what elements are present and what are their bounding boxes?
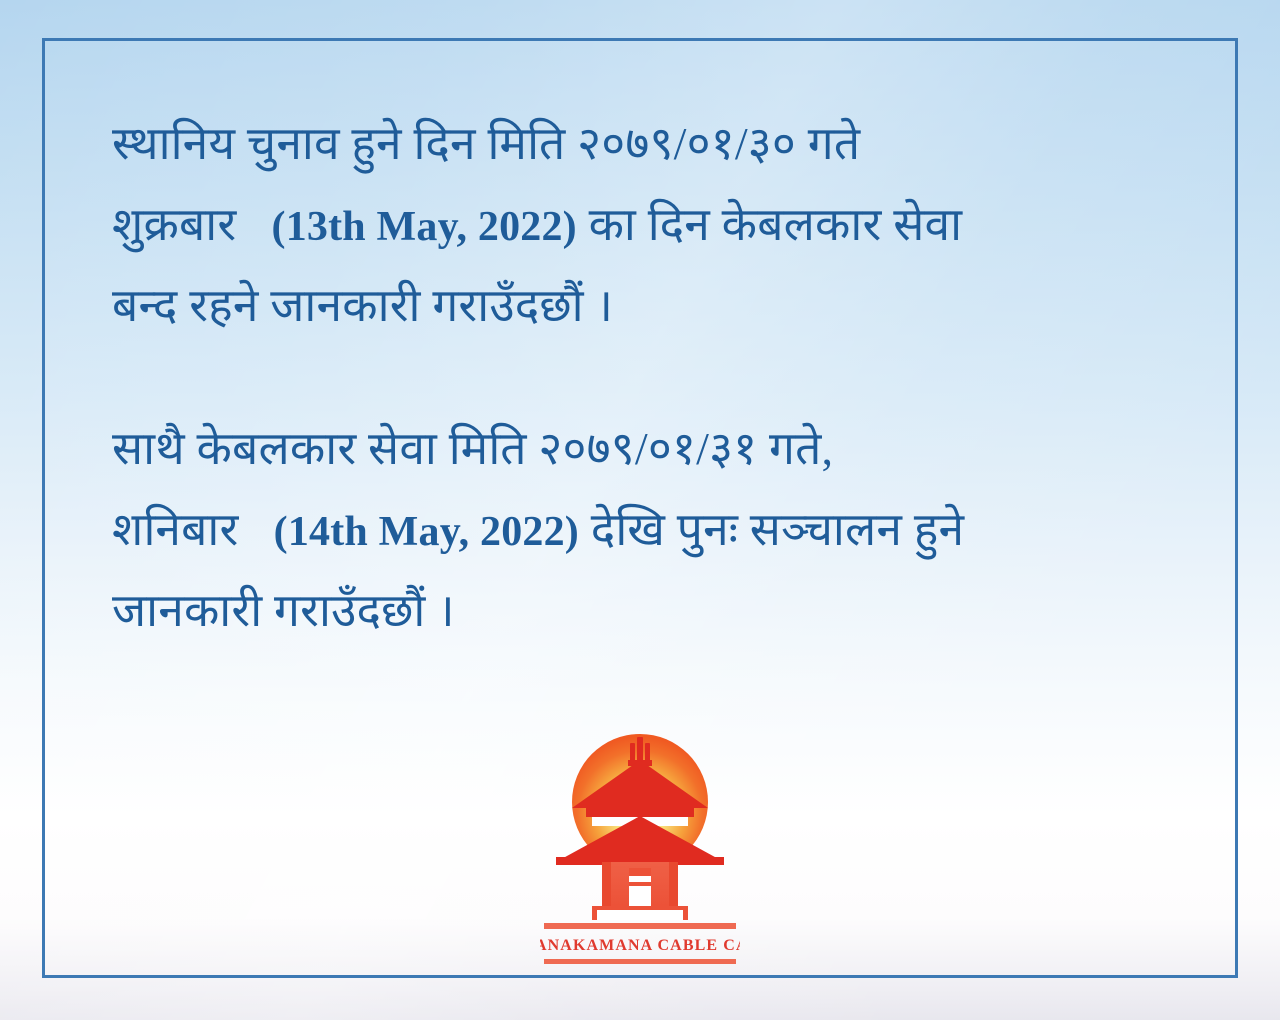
paragraph-1-line-2: शुक्रबार (13th May, 2022) का दिन केबलकार…: [112, 185, 1187, 266]
temple-sun-logo-icon: [540, 716, 740, 921]
upper-roof-eave-icon: [586, 808, 694, 817]
paragraph-2-line-3: जानकारी गराउँदछौं ।: [112, 571, 1187, 652]
paragraph-2-line-2-nepali-prefix: शनिबार: [112, 504, 239, 555]
paragraph-1-line-2-nepali-suffix: का दिन केबलकार सेवा: [589, 199, 963, 250]
temple-plinth-inner-icon: [597, 910, 683, 920]
wordmark-top-bar-icon: [544, 923, 736, 929]
notice-body: स्थानिय चुनाव हुने दिन मिति २०७९/०१/३० ग…: [112, 104, 1187, 652]
temple-pillar-right-icon: [669, 862, 678, 906]
paragraph-2-line-2: शनिबार (14th May, 2022) देखि पुनः सञ्चाल…: [112, 490, 1187, 571]
paragraph-2-line-2-nepali-suffix: देखि पुनः सञ्चालन हुने: [591, 504, 965, 555]
paragraph-2-gregorian-date: (14th May, 2022): [274, 509, 579, 555]
logo-wordmark: MANAKAMANA CABLE CAR: [540, 923, 740, 969]
paragraph-2-line-1: साथै केबलकार सेवा मिति २०७९/०१/३१ गते,: [112, 409, 1187, 490]
notice-paragraph-1: स्थानिय चुनाव हुने दिन मिति २०७९/०१/३० ग…: [112, 104, 1187, 347]
paragraph-1-line-1: स्थानिय चुनाव हुने दिन मिति २०७९/०१/३० ग…: [112, 104, 1187, 185]
notice-paragraph-2: साथै केबलकार सेवा मिति २०७९/०१/३१ गते, श…: [112, 409, 1187, 652]
manakamana-cable-car-logo: MANAKAMANA CABLE CAR: [540, 716, 740, 921]
paragraph-1-line-3: बन्द रहने जानकारी गराउँदछौं ।: [112, 266, 1187, 347]
wordmark-bottom-bar-icon: [544, 959, 736, 964]
notice-poster: स्थानिय चुनाव हुने दिन मिति २०७९/०१/३० ग…: [0, 0, 1280, 1020]
paragraph-spacer: [112, 347, 1187, 409]
logo-container: MANAKAMANA CABLE CAR: [0, 716, 1280, 921]
temple-door-crossbar-icon: [629, 882, 651, 886]
temple-door-lintel-icon: [629, 868, 651, 876]
wordmark-label: MANAKAMANA CABLE CAR: [540, 937, 740, 954]
paragraph-1-line-2-nepali-prefix: शुक्रबार: [112, 199, 236, 250]
paragraph-1-gregorian-date: (13th May, 2022): [272, 204, 577, 250]
temple-pillar-left-icon: [602, 862, 611, 906]
